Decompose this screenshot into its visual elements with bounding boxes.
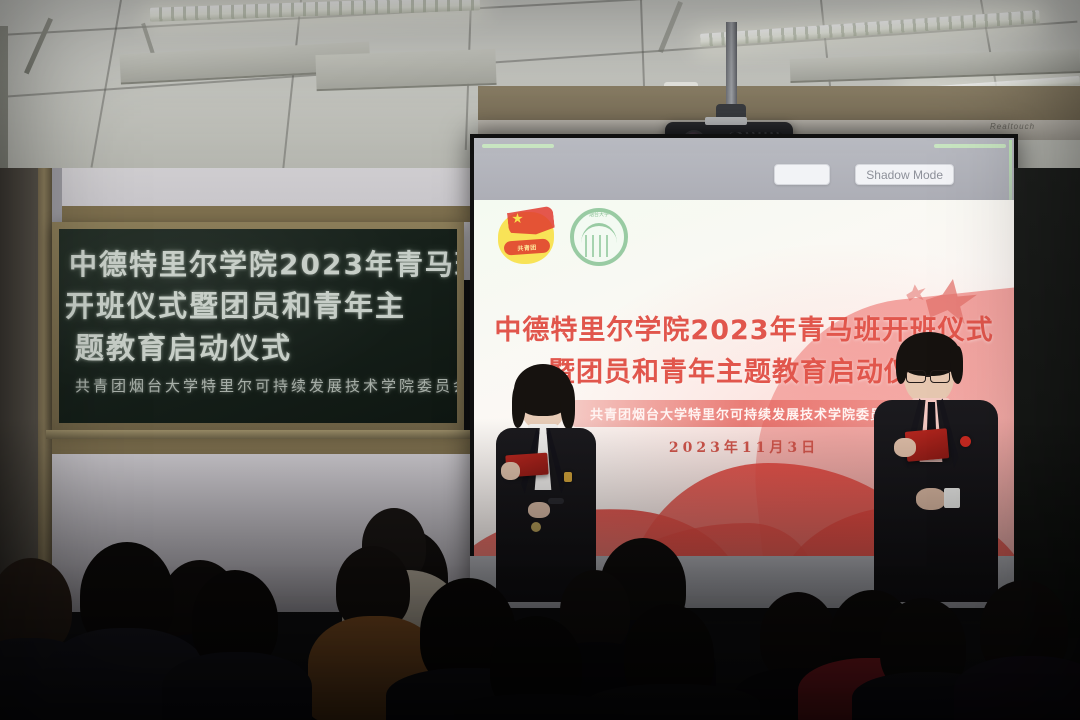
wall-trim-upper xyxy=(0,206,478,222)
projector-mount-rod xyxy=(726,22,737,108)
chalkboard-subtitle: 共青团烟台大学特里尔可持续发展技术学院委员会 xyxy=(75,375,457,396)
toolbar-accent-right xyxy=(934,144,1006,148)
slide-organizer-banner: 共青团烟台大学特里尔可持续发展技术学院委员会 xyxy=(572,400,916,427)
projected-toolbar: Shadow Mode xyxy=(474,138,1014,200)
projector-bracket xyxy=(705,117,747,125)
chalkboard-line-2: 开班仪式暨团员和青年主 xyxy=(65,283,406,325)
chalkboard-surface: 中德特里尔学院2023年青马班 开班仪式暨团员和青年主 题教育启动仪式 共青团烟… xyxy=(59,229,457,423)
presenter-right-hand-upper xyxy=(894,438,916,457)
audience xyxy=(0,490,1080,720)
toolbar-obscured-label[interactable] xyxy=(774,164,830,185)
chalkboard-line-1: 中德特里尔学院2023年青马班 xyxy=(69,243,457,283)
toolbar-accent-left xyxy=(482,144,554,148)
university-emblem-text: 烟台大学 xyxy=(574,211,624,218)
presenter-left-hand-upper xyxy=(501,462,520,480)
communist-youth-league-emblem-icon: 共青团 xyxy=(496,206,556,268)
presenter-right-lapel-pin xyxy=(960,436,971,447)
screen-brand-label: Realtouch xyxy=(990,122,1035,131)
presenter-right-glasses-left xyxy=(906,370,926,383)
league-ribbon-text: 共青团 xyxy=(517,242,537,252)
chalkboard-line-3: 题教育启动仪式 xyxy=(75,325,292,367)
shadow-mode-button[interactable]: Shadow Mode xyxy=(855,164,954,185)
presenter-left-lapel-pin xyxy=(564,472,572,482)
wall-post xyxy=(52,168,62,224)
university-emblem-icon: 烟台大学 xyxy=(570,208,628,266)
chalkboard: 中德特里尔学院2023年青马班 开班仪式暨团员和青年主 题教育启动仪式 共青团烟… xyxy=(52,222,464,430)
presenter-right-glasses-right xyxy=(930,370,950,383)
presenter-left-hair-side-r xyxy=(560,382,575,430)
classroom-scene: Realtouch 中德特里尔学院2023年青马班 开班仪式暨团员和青年主 题教… xyxy=(0,0,1080,720)
chalk-tray xyxy=(46,430,470,439)
